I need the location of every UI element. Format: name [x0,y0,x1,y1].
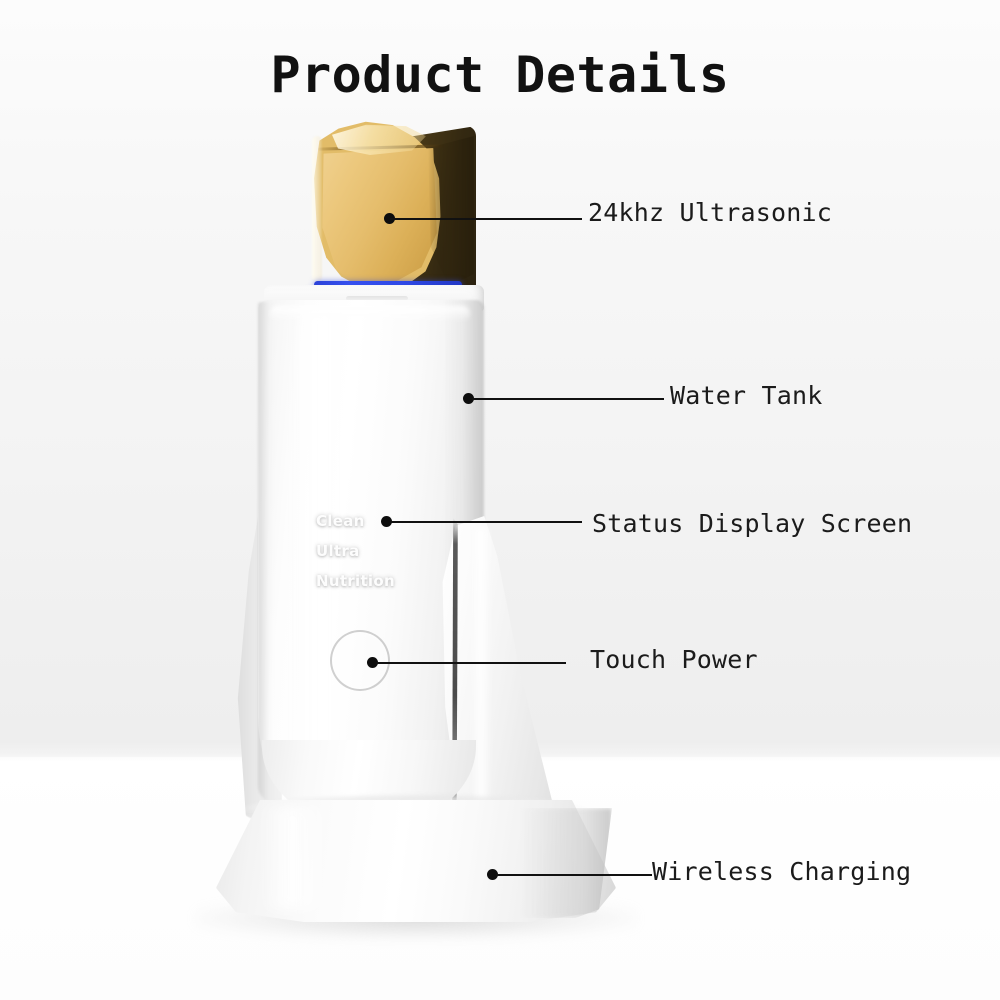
cradle-right-wing-highlight [470,528,492,828]
callout-label-water-tank: Water Tank [670,381,823,410]
screen-line-ultra: Ultra [316,536,436,566]
callout-line-water-tank [472,398,664,400]
callout-label-touch-power: Touch Power [590,645,758,674]
callout-line-wireless-charging [496,874,652,876]
device-body-left-edge [258,302,274,802]
callout-label-ultrasonic: 24khz Ultrasonic [588,198,832,227]
charging-base-sheen [260,806,330,910]
ultrasonic-tip [300,120,490,295]
product-details-infographic: Product Details Clean Ultra Nutrition [0,0,1000,1000]
callout-line-ultrasonic [390,218,582,220]
callout-label-status-display-screen: Status Display Screen [592,509,912,538]
charging-base-shadow [520,808,612,918]
touch-power-button[interactable] [330,630,390,691]
device-body-top-shine [270,306,470,322]
screen-line-nutrition: Nutrition [316,566,436,596]
callout-line-status-display-screen [390,521,582,523]
callout-line-touch-power [376,662,566,664]
callout-label-wireless-charging: Wireless Charging [652,857,911,886]
status-display-screen: Clean Ultra Nutrition [316,506,436,596]
product-image: Clean Ultra Nutrition [0,0,1000,1000]
tip-left-edge [312,136,322,282]
